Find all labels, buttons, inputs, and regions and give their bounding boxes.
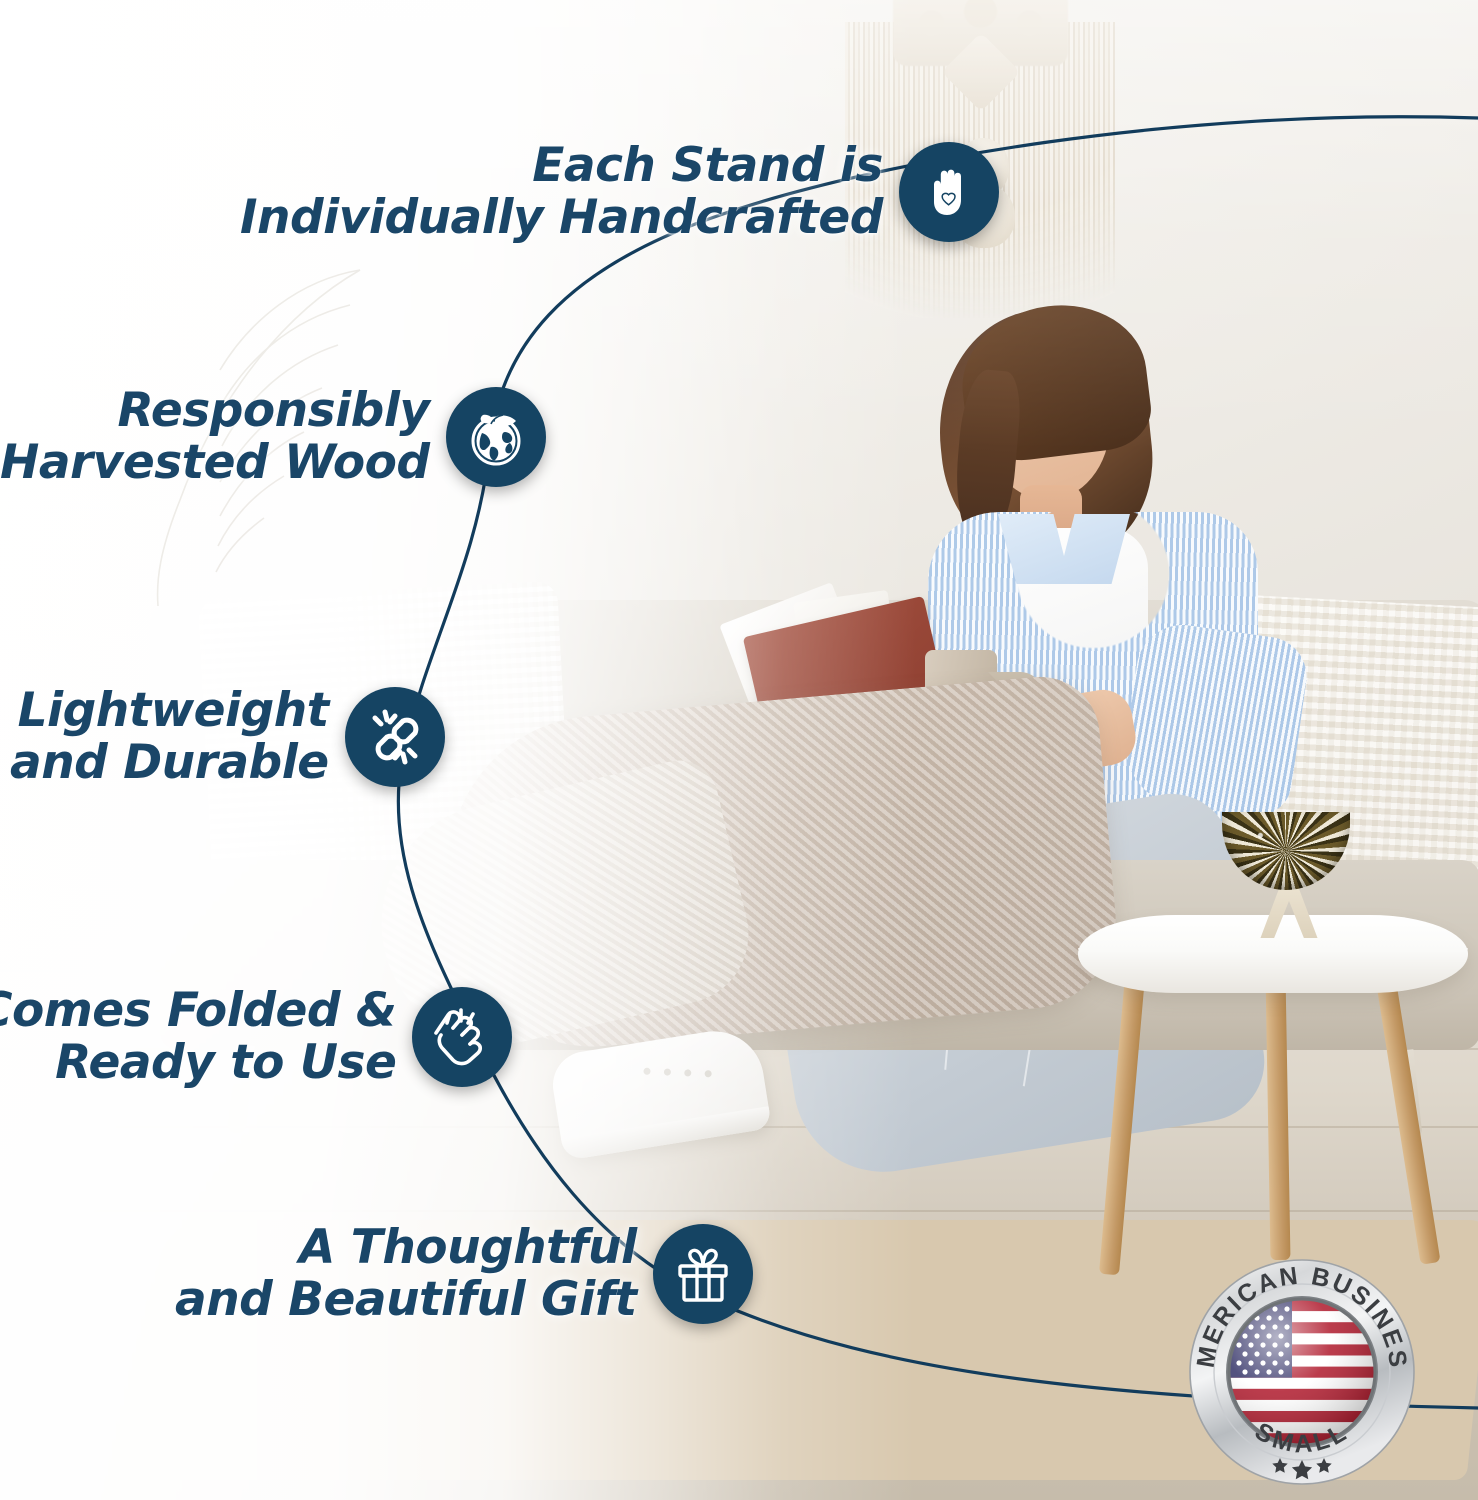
gift-box-icon xyxy=(670,1241,736,1307)
feature-label-responsible-wood: Responsibly Harvested Wood xyxy=(0,385,430,488)
feature-label-handcrafted: Each Stand is Individually Handcrafted xyxy=(240,140,883,243)
globe-leaf-icon xyxy=(461,402,531,472)
feature-badge-lightweight-durable[interactable] xyxy=(345,687,445,787)
feature-badge-gift[interactable] xyxy=(653,1224,753,1324)
feature-item-gift[interactable]: A Thoughtful and Beautiful Gift xyxy=(175,1222,753,1325)
feature-badge-responsible-wood[interactable] xyxy=(446,387,546,487)
chain-link-icon xyxy=(362,704,428,770)
feature-label-ready-to-use: Comes Folded & Ready to Use xyxy=(0,985,396,1088)
feature-item-handcrafted[interactable]: Each Stand is Individually Handcrafted xyxy=(240,140,999,243)
small-american-business-seal: AMERICAN BUSINESS SMALL xyxy=(1188,1258,1416,1486)
feature-label-gift: A Thoughtful and Beautiful Gift xyxy=(175,1222,637,1325)
us-flag-emblem xyxy=(1230,1300,1374,1444)
feature-badge-ready-to-use[interactable] xyxy=(412,987,512,1087)
feature-item-responsible-wood[interactable]: Responsibly Harvested Wood xyxy=(0,385,546,488)
finger-snap-icon xyxy=(428,1003,496,1071)
product-infographic-canvas: Each Stand is Individually Handcrafted R… xyxy=(0,0,1478,1500)
hand-heart-icon xyxy=(917,160,981,224)
feature-item-ready-to-use[interactable]: Comes Folded & Ready to Use xyxy=(0,985,512,1088)
feature-item-lightweight-durable[interactable]: Lightweight and Durable xyxy=(10,685,445,788)
feature-badge-handcrafted[interactable] xyxy=(899,142,999,242)
feature-label-lightweight-durable: Lightweight and Durable xyxy=(10,685,329,788)
